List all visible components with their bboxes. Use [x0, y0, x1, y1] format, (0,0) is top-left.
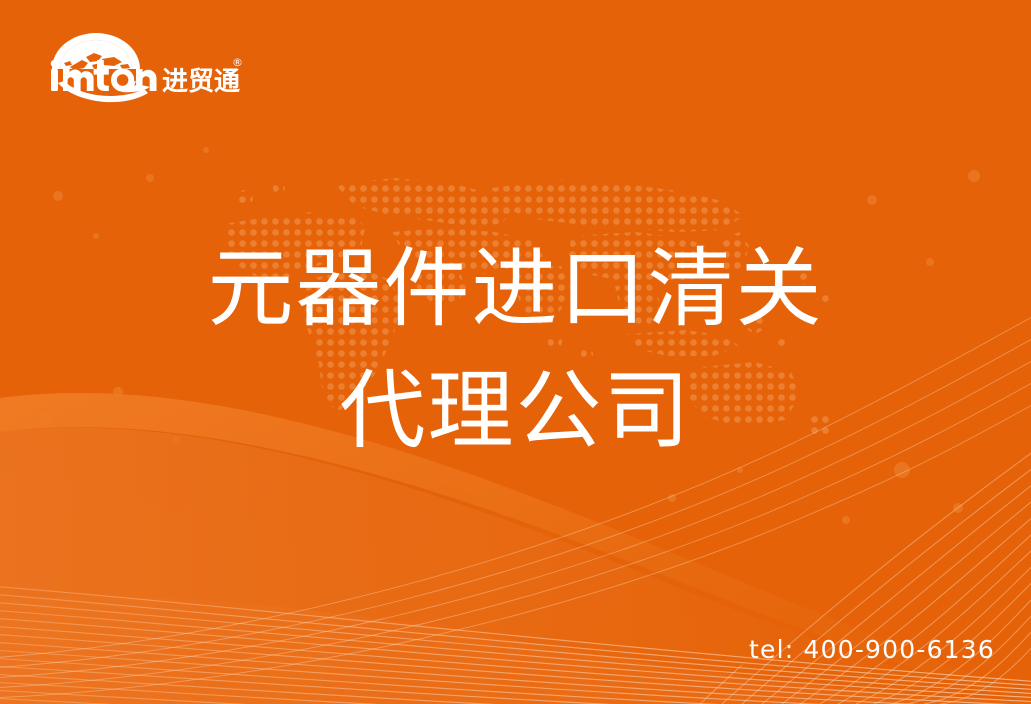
- brand-logo[interactable]: 进贸通 ®: [36, 27, 246, 105]
- globe-dome-icon: [52, 33, 140, 70]
- registered-trademark-icon: ®: [232, 56, 243, 69]
- svg-text:进贸通: 进贸通: [162, 67, 240, 97]
- contact-telephone[interactable]: tel: 400-900-6136: [749, 635, 995, 664]
- headline-line-2: 代理公司: [0, 350, 1031, 472]
- promo-banner: 进贸通 ® 元器件进口清关 代理公司 tel: 400-900-6136: [0, 0, 1031, 704]
- svg-text:®: ®: [232, 56, 243, 69]
- wordmark-chinese: 进贸通: [162, 67, 240, 97]
- page-title: 元器件进口清关 代理公司: [0, 228, 1031, 472]
- headline-line-1: 元器件进口清关: [0, 228, 1031, 350]
